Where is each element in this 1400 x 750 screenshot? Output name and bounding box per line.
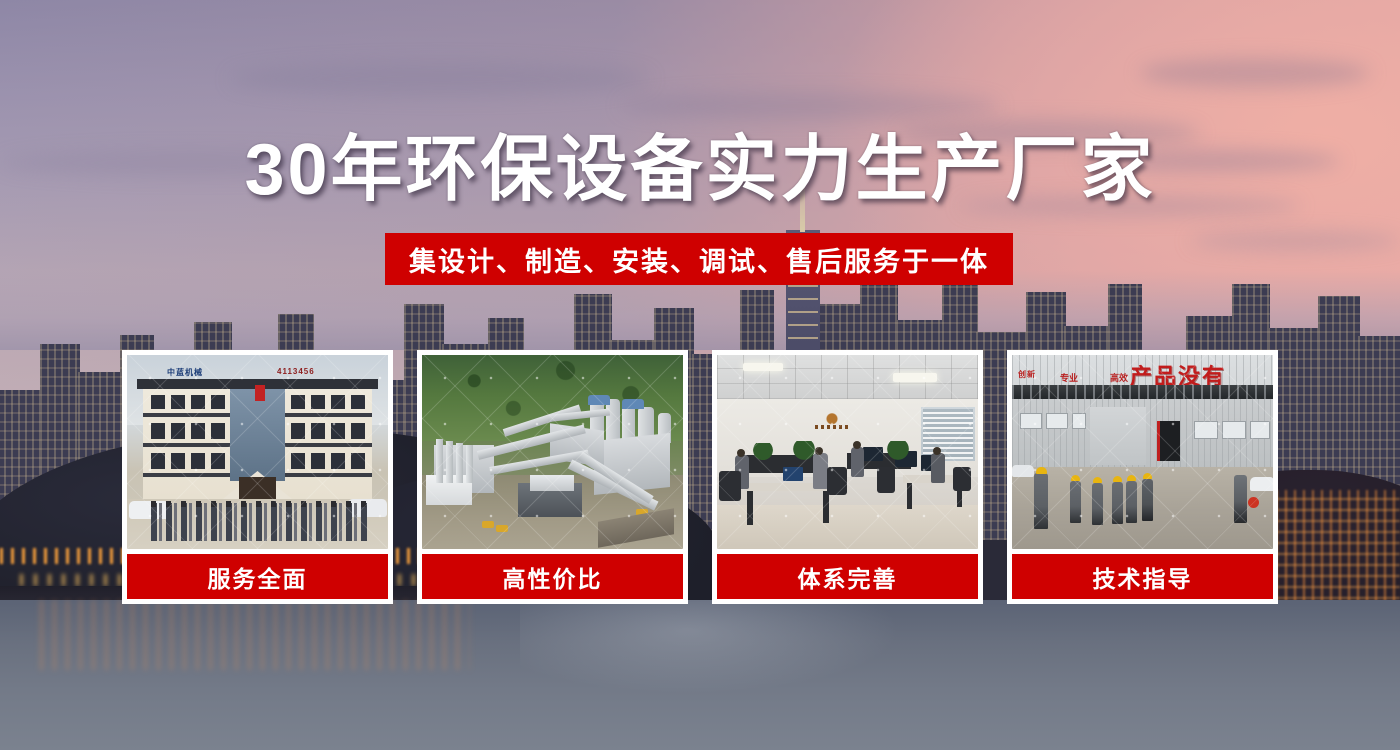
building-sign-text: 中蓝机械	[167, 367, 203, 378]
feature-card-row: 中蓝机械 4113456 服务全面	[122, 350, 1278, 604]
office-window	[921, 407, 975, 461]
feature-card-service[interactable]: 中蓝机械 4113456 服务全面	[122, 350, 393, 604]
cloud	[1190, 232, 1400, 250]
wall-logo	[813, 409, 851, 437]
feature-card-system[interactable]: 体系完善	[712, 350, 983, 604]
cloud	[1140, 58, 1370, 88]
river-light-reflection	[40, 600, 470, 670]
river-reflection	[520, 600, 940, 750]
hero-banner: 30年环保设备实力生产厂家 集设计、制造、安装、调试、售后服务于一体	[0, 0, 1400, 750]
wall-slogan-right: 高效	[1110, 371, 1128, 384]
headline: 30年环保设备实力生产厂家	[0, 134, 1400, 206]
card-photo-office-building: 中蓝机械 4113456	[127, 355, 388, 549]
card-photo-industrial-plant	[422, 355, 683, 549]
feature-card-value[interactable]: 高性价比	[417, 350, 688, 604]
feature-card-guidance[interactable]: 创新 专业 高效 产品没有	[1007, 350, 1278, 604]
wall-slogan-left: 创新	[1018, 369, 1036, 380]
card-photo-office-interior	[717, 355, 978, 549]
card-caption-service: 服务全面	[127, 554, 388, 599]
card-caption-value: 高性价比	[422, 554, 683, 599]
cloud	[230, 62, 650, 96]
wall-slogan-mid: 专业	[1060, 371, 1078, 384]
card-caption-guidance: 技术指导	[1012, 554, 1273, 599]
cloud	[620, 92, 1000, 120]
subtitle-text: 集设计、制造、安装、调试、售后服务于一体	[409, 240, 989, 279]
card-caption-system: 体系完善	[717, 554, 978, 599]
red-helmet-in-hand	[1248, 497, 1259, 508]
card-photo-factory-workers: 创新 专业 高效 产品没有	[1012, 355, 1273, 549]
subtitle-banner: 集设计、制造、安装、调试、售后服务于一体	[385, 233, 1013, 285]
building-phone-text: 4113456	[277, 367, 315, 376]
